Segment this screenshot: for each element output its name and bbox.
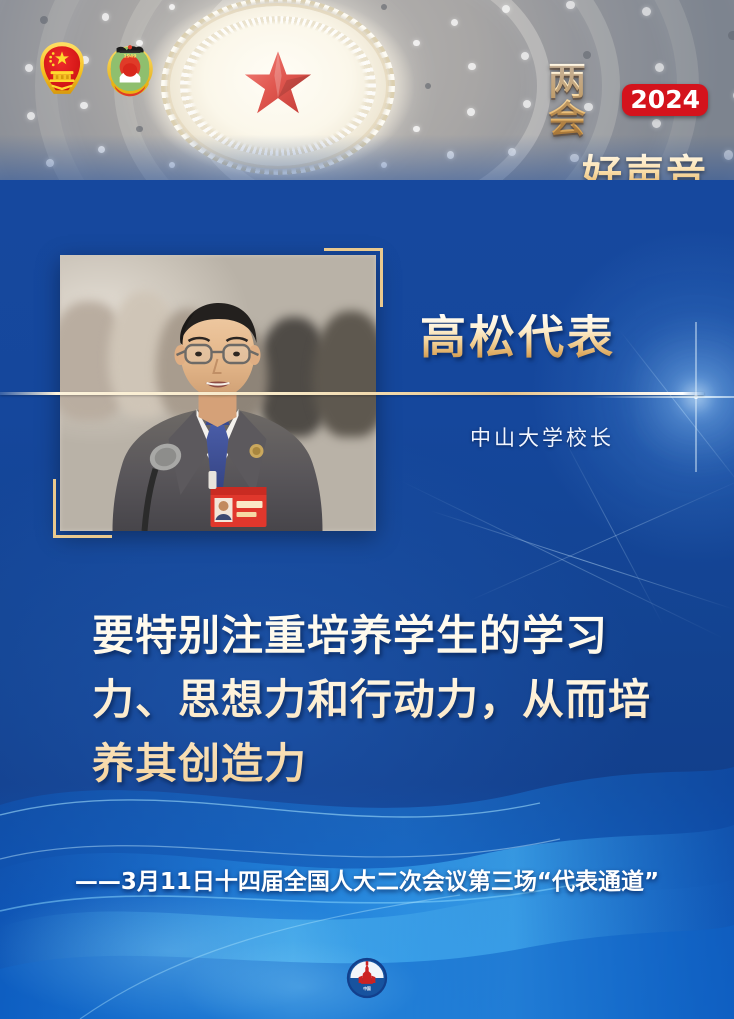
ceiling-light-dot [724, 150, 734, 160]
ceiling-light-dot [413, 126, 420, 133]
svg-text:中国: 中国 [363, 986, 371, 991]
cppcc-emblem-icon: 1949 [104, 40, 156, 98]
brand-year-badge: 2024 [622, 84, 708, 116]
ceiling-light-dot [169, 4, 176, 11]
ceiling-light-dot [642, 7, 651, 16]
light-flare [694, 395, 698, 399]
ceiling-light-dot [413, 40, 420, 47]
news-agency-round-logo-icon: 中国 [346, 957, 388, 999]
brand-logo: 两会 2024 好声音 [548, 62, 708, 146]
light-ray [559, 430, 663, 625]
poster-root: 1949 两会 2024 好声音 [0, 0, 734, 1019]
ceiling-light-dot [40, 16, 48, 24]
ceiling-light-dot [447, 151, 455, 159]
emblem-group: 1949 [36, 40, 156, 98]
frame-corner-bottom-left [53, 479, 112, 538]
ceiling-light-dot [80, 102, 88, 110]
ceiling-light-dot [566, 1, 575, 10]
ceiling-light-dot [508, 148, 516, 156]
ceiling-light-dot [468, 63, 476, 71]
ceiling-light-dot [136, 126, 143, 133]
footer-caption: ——3月11日十四届全国人大二次会议第三场“代表通道” [0, 862, 734, 896]
ceiling-light-dot [523, 100, 531, 108]
light-ray [430, 510, 734, 610]
speaker-subtitle: 中山大学校长 [470, 422, 614, 452]
ceiling-light-dot [381, 4, 388, 11]
ceiling-light-dot [467, 108, 475, 116]
name-divider [0, 392, 704, 395]
ceiling-rosette [170, 6, 386, 166]
ceiling-light-dot [169, 162, 176, 169]
ceiling-light-dot [27, 112, 35, 120]
speaker-name: 高松代表 [420, 314, 616, 360]
ceiling-light-dot [451, 19, 459, 27]
brand-logo-row1: 两会 2024 [548, 62, 708, 138]
ceiling-light-dot [102, 13, 110, 21]
ceiling-light-dot [425, 83, 432, 90]
svg-text:1949: 1949 [124, 54, 137, 60]
ceiling-light-dot [728, 31, 734, 41]
red-star-icon [242, 47, 314, 119]
ceiling-light-dot [381, 162, 388, 169]
rosette-petals-outer [161, 0, 395, 175]
light-ray [619, 330, 734, 488]
ceiling-light-dot [25, 64, 33, 72]
frame-corner-top-right [324, 248, 383, 307]
ceiling-light-dot [46, 159, 54, 167]
ceiling-light-dot [502, 5, 510, 13]
rosette-petals-inner [180, 16, 376, 156]
ceiling-light-dot [98, 146, 106, 154]
brand-title-line1: 两会 [548, 62, 614, 138]
light-ray [470, 478, 734, 601]
ceiling-light-dot [521, 52, 529, 60]
national-emblem-of-china-icon [36, 40, 88, 98]
